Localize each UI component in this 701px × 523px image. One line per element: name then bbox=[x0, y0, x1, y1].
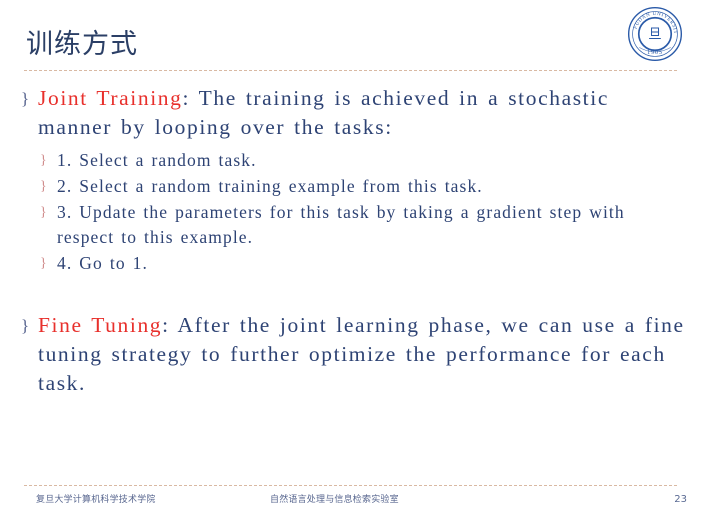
bullet-glyph-icon: } bbox=[40, 174, 47, 199]
svg-text:旦: 旦 bbox=[648, 27, 661, 42]
bullet-glyph-icon: } bbox=[40, 148, 47, 173]
page-title: 训练方式 bbox=[26, 28, 138, 62]
step-text: 3. Update the parameters for this task b… bbox=[57, 202, 625, 247]
term-joint-training: Joint Training bbox=[38, 86, 182, 110]
bullet-glyph-icon: } bbox=[21, 311, 29, 340]
bullet-glyph-icon: } bbox=[40, 251, 47, 276]
page-number: 23 bbox=[674, 494, 687, 505]
fudan-university-logo-icon: FUDAN UNIVERSITY 旦 1905 bbox=[627, 6, 683, 62]
bullet-glyph-icon: } bbox=[40, 200, 47, 225]
bullet-item-joint-training: }Joint Training: The training is achieve… bbox=[20, 84, 685, 142]
bullet-glyph-icon: } bbox=[21, 84, 29, 113]
bullet-item-fine-tuning: }Fine Tuning: After the joint learning p… bbox=[20, 311, 685, 398]
section-spacer bbox=[20, 277, 685, 311]
step-text: 4. Go to 1. bbox=[57, 253, 148, 273]
header-divider bbox=[24, 70, 677, 71]
step-text: 2. Select a random training example from… bbox=[57, 176, 483, 196]
list-item: }2. Select a random training example fro… bbox=[40, 174, 685, 199]
svg-text:1905: 1905 bbox=[647, 50, 663, 56]
term-fine-tuning: Fine Tuning bbox=[38, 313, 162, 337]
slide: 训练方式 FUDAN UNIVERSITY 旦 1905 }Joint Trai… bbox=[0, 0, 701, 523]
list-item: }3. Update the parameters for this task … bbox=[40, 200, 685, 250]
list-item: }4. Go to 1. bbox=[40, 251, 685, 276]
list-item: }1. Select a random task. bbox=[40, 148, 685, 173]
slide-body: }Joint Training: The training is achieve… bbox=[20, 84, 685, 402]
footer-divider bbox=[24, 485, 677, 486]
joint-training-steps: }1. Select a random task. }2. Select a r… bbox=[20, 148, 685, 276]
footer-center-text: 自然语言处理与信息检索实验室 bbox=[270, 492, 399, 505]
step-text: 1. Select a random task. bbox=[57, 150, 257, 170]
footer-left-text: 复旦大学计算机科学技术学院 bbox=[36, 492, 156, 505]
